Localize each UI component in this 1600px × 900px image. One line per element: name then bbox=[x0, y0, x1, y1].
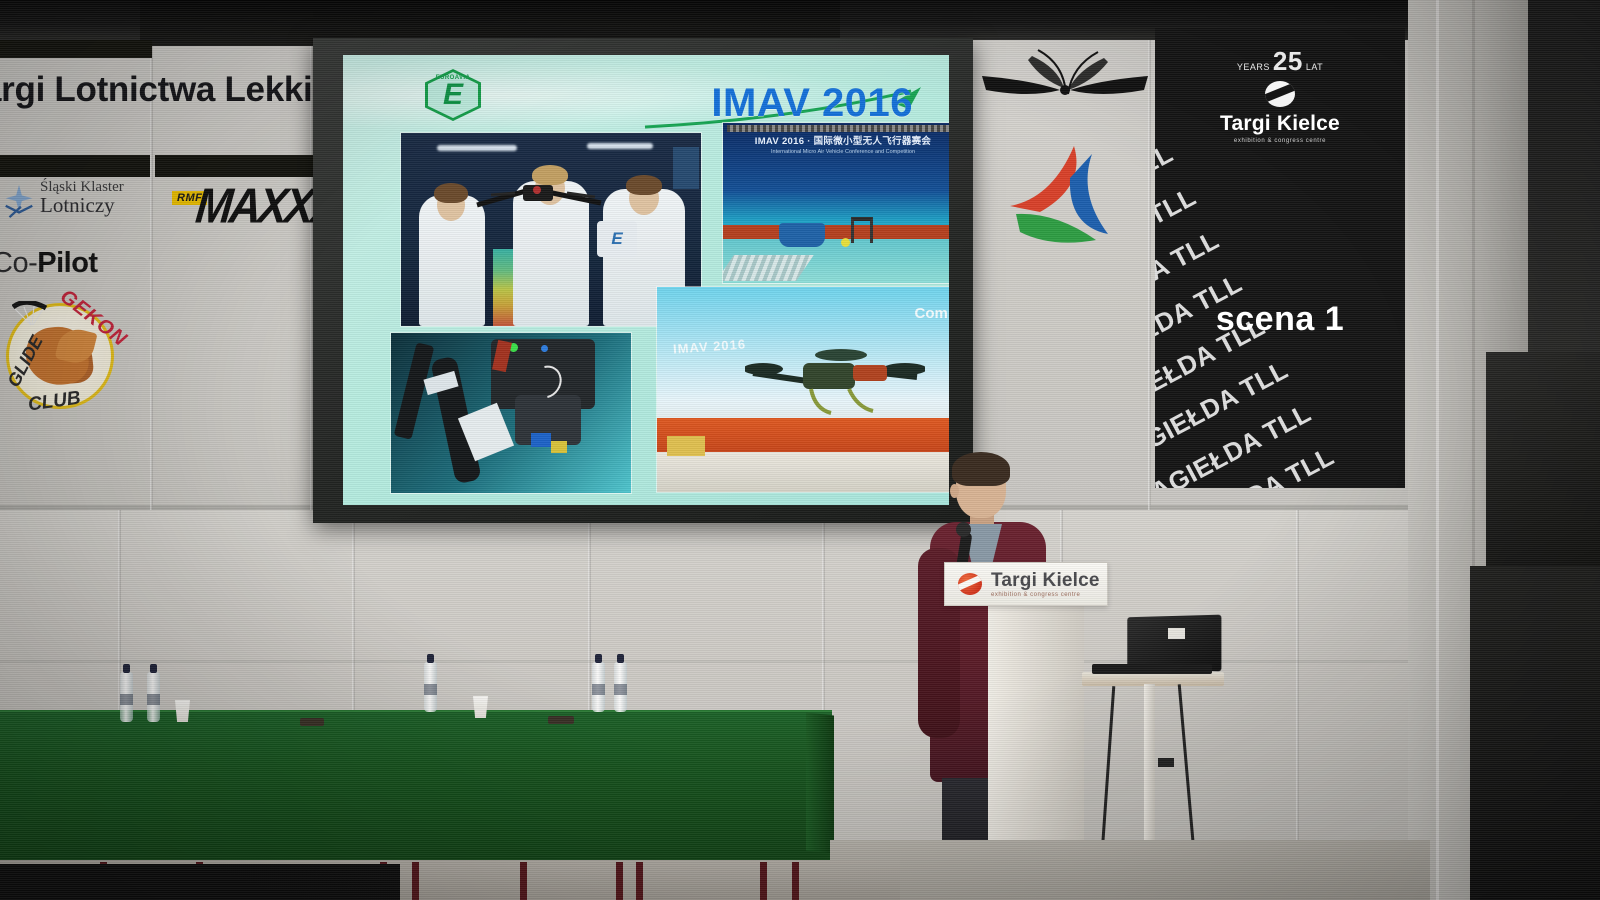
arena-truss bbox=[727, 125, 949, 132]
speaker-box-upper bbox=[1486, 352, 1600, 568]
chair-leg bbox=[792, 862, 799, 900]
table-cloth-fold bbox=[806, 713, 834, 854]
anniversary-years: YEARS bbox=[1237, 62, 1270, 72]
water-bottle bbox=[424, 662, 437, 712]
left-black-divider-2 bbox=[155, 155, 313, 177]
slide-photo-drone-closeup bbox=[391, 333, 631, 493]
table-object bbox=[300, 718, 324, 726]
projection-screen-surface: EUROAVIA E IMAV 2016 bbox=[343, 55, 949, 505]
star-cluster-icon bbox=[0, 182, 38, 222]
chair-leg bbox=[520, 862, 527, 900]
anniversary-lat: LAT bbox=[1306, 62, 1323, 72]
paper-cup bbox=[473, 696, 488, 718]
microphone-head-icon bbox=[956, 522, 971, 537]
right-banner: PARAGIEŁDA TLL PARAGIEŁDA TLL PARAGIEŁDA… bbox=[1155, 28, 1405, 488]
podium-brand-subtitle: exhibition & congress centre bbox=[991, 592, 1100, 598]
event-banner-title: argi Lotnictwa Lekkiego bbox=[0, 70, 342, 110]
chair-leg bbox=[616, 862, 623, 900]
stage-label: scena 1 bbox=[1155, 300, 1405, 339]
laptop-badge bbox=[1168, 628, 1185, 639]
water-bottle bbox=[120, 672, 133, 722]
floor-right bbox=[830, 840, 1430, 900]
flight-overlay-right: Comp bbox=[915, 305, 950, 322]
sponsor-logo-copilot: Co-Pilot bbox=[0, 247, 98, 280]
flight-overlay-left: IMAV 2016 bbox=[673, 336, 747, 356]
right-panel-seam bbox=[1436, 0, 1439, 900]
paraglider-icon bbox=[12, 301, 54, 327]
presentation-slide: EUROAVIA E IMAV 2016 bbox=[343, 55, 949, 505]
banner-brand-subtitle: exhibition & congress centre bbox=[1155, 138, 1405, 144]
pinwheel-logo-icon bbox=[1000, 136, 1130, 248]
anniversary-mark: YEARS 25 LAT bbox=[1155, 46, 1405, 77]
left-black-strip bbox=[0, 40, 152, 58]
anniversary-number: 25 bbox=[1273, 46, 1303, 76]
podium-brand-name: Targi Kielce bbox=[991, 571, 1100, 590]
presenter-ear bbox=[950, 484, 959, 498]
targi-kielce-sphere-icon bbox=[1265, 81, 1295, 107]
left-black-divider bbox=[0, 155, 150, 177]
cable-clip bbox=[1158, 758, 1174, 767]
drone-held-icon bbox=[471, 181, 611, 217]
targi-kielce-sphere-icon bbox=[958, 573, 982, 595]
projection-screen: EUROAVIA E IMAV 2016 bbox=[313, 38, 973, 523]
chair-leg bbox=[636, 862, 643, 900]
banner-brand-block: YEARS 25 LAT Targi Kielce exhibition & c… bbox=[1155, 46, 1405, 144]
arena-marker-ball bbox=[841, 238, 850, 247]
sponsor-name-line2: Lotniczy bbox=[40, 195, 124, 216]
water-bottle bbox=[592, 662, 605, 712]
propeller-icon bbox=[980, 46, 1150, 126]
banner-brand-name: Targi Kielce bbox=[1155, 112, 1405, 136]
arena-banner: IMAV 2016 · 国际微小型无人飞行器赛会 International M… bbox=[731, 133, 949, 195]
copilot-bold: Pilot bbox=[37, 247, 97, 279]
slide-photo-team: E bbox=[401, 133, 701, 326]
table-object bbox=[548, 716, 574, 724]
table-cloth bbox=[0, 712, 832, 864]
team-jacket-badge: E bbox=[597, 221, 637, 257]
presenter-hair bbox=[952, 452, 1010, 486]
sponsor-logo-gekon-glide-club: GEKON GLIDE CLUB bbox=[0, 285, 132, 410]
water-bottle bbox=[614, 662, 627, 712]
copilot-prefix: Co- bbox=[0, 247, 37, 279]
arena-gate bbox=[851, 217, 873, 243]
floor-dark-left bbox=[0, 864, 400, 900]
arena-banner-cn: IMAV 2016 · 国际微小型无人飞行器赛会 bbox=[731, 133, 949, 147]
flight-arena-box bbox=[667, 436, 705, 456]
slide-title: IMAV 2016 bbox=[343, 81, 949, 126]
wall-panel-seam bbox=[150, 40, 153, 510]
chair-leg bbox=[412, 862, 419, 900]
arena-vehicle bbox=[779, 223, 825, 247]
laptop-screen[interactable] bbox=[1127, 615, 1221, 672]
water-bottle bbox=[147, 672, 160, 722]
speaker-box-lower bbox=[1470, 566, 1600, 900]
paper-cup bbox=[175, 700, 190, 722]
podium-sign: Targi Kielce exhibition & congress centr… bbox=[944, 562, 1108, 606]
arena-banner-en: International Micro Air Vehicle Conferen… bbox=[731, 149, 949, 155]
flight-arena-floor bbox=[657, 452, 949, 492]
laptop-base[interactable] bbox=[1092, 664, 1212, 674]
wall-panel-seam bbox=[588, 510, 591, 710]
chair-leg bbox=[760, 862, 767, 900]
drone-flying-icon bbox=[745, 343, 925, 415]
sponsor-logo-slaski-klaster: Śląski Klaster Lotniczy bbox=[0, 180, 150, 228]
wall-logo bbox=[980, 38, 1150, 248]
slide-photo-drone-flight: IMAV 2016 Comp bbox=[657, 287, 949, 492]
slide-photo-arena: IMAV 2016 · 国际微小型无人飞行器赛会 International M… bbox=[723, 123, 949, 283]
presentation-scene: argi Lotnictwa Lekkiego Śląski Klaster L… bbox=[0, 0, 1600, 900]
